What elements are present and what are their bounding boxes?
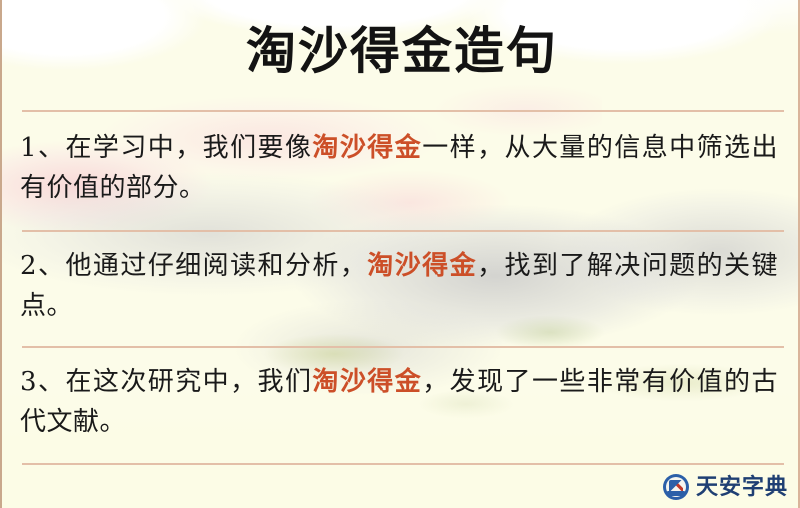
brand-logo: 天安字典 [663,474,788,500]
divider-above-sentence-2 [22,230,784,232]
sentence-3-index: 3、 [20,367,65,397]
sentence-3-text-before: 在这次研究中，我们 [65,367,312,397]
example-sentence-1: 1、在学习中，我们要像淘沙得金一样，从大量的信息中筛选出有价值的部分。 [20,128,778,208]
sentence-2-text-before: 他通过仔细阅读和分析， [65,251,367,281]
example-sentence-2: 2、他通过仔细阅读和分析，淘沙得金，找到了解决问题的关键点。 [20,246,778,326]
page-title: 淘沙得金造句 [2,18,800,84]
seal-badge-icon [663,474,689,500]
sentence-2-index: 2、 [20,251,65,281]
divider-above-sentence-3 [22,346,784,348]
page-root: 淘沙得金造句 1、在学习中，我们要像淘沙得金一样，从大量的信息中筛选出有价值的部… [0,0,800,508]
divider-footer [22,463,784,465]
brand-name: 天安字典 [696,474,788,500]
sentence-1-idiom: 淘沙得金 [312,133,422,163]
divider-above-sentence-1 [22,110,784,112]
content-area: 淘沙得金造句 1、在学习中，我们要像淘沙得金一样，从大量的信息中筛选出有价值的部… [2,0,800,508]
sentence-3-idiom: 淘沙得金 [312,367,422,397]
sentence-1-text-before: 在学习中，我们要像 [65,133,312,163]
sentence-1-index: 1、 [20,133,65,163]
example-sentence-3: 3、在这次研究中，我们淘沙得金，发现了一些非常有价值的古代文献。 [20,362,778,442]
seal-badge-bar [667,491,685,496]
sentence-2-idiom: 淘沙得金 [367,251,477,281]
